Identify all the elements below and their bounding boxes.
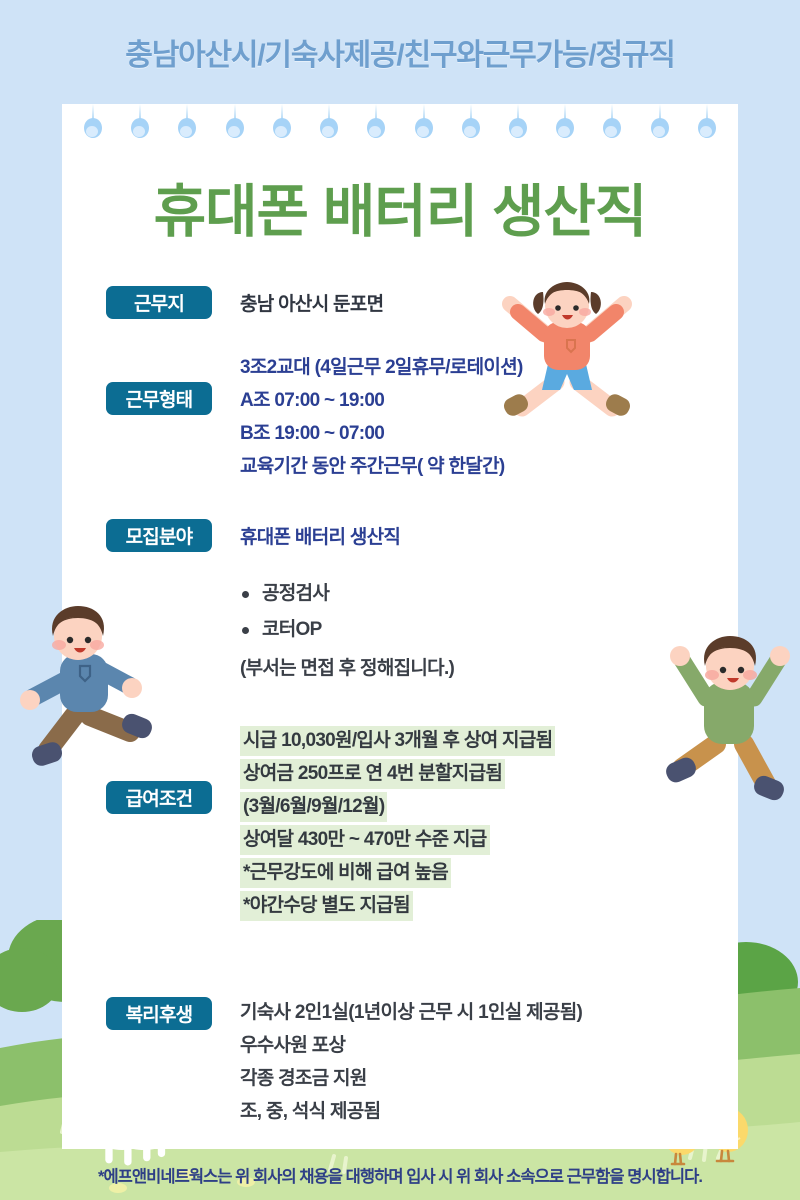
salary-line: *야간수당 별도 지급됨 bbox=[240, 891, 413, 921]
ornament-icon bbox=[367, 104, 385, 154]
salary-line: 상여달 430만 ~ 470만 수준 지급 bbox=[240, 825, 490, 855]
salary-line: *근무강도에 비해 급여 높음 bbox=[240, 858, 451, 888]
badge-work-location: 근무지 bbox=[106, 286, 212, 319]
recruitment-field-note: (부서는 면접 후 정해집니다.) bbox=[240, 652, 454, 685]
section-salary: 급여조건 시급 10,030원/입사 3개월 후 상여 지급됨 상여금 250프… bbox=[106, 724, 555, 924]
running-boy-icon bbox=[8, 604, 158, 784]
list-item: 공정검사 bbox=[240, 576, 454, 612]
ornament-icon bbox=[603, 104, 621, 154]
benefits-content: 기숙사 2인1실(1년이상 근무 시 1인실 제공됨) 우수사원 포상 각종 경… bbox=[240, 994, 582, 1128]
recruitment-field-content: 휴대폰 배터리 생산직 공정검사 코터OP (부서는 면접 후 정해집니다.) bbox=[240, 519, 454, 685]
benefits-line: 조, 중, 석식 제공됨 bbox=[240, 1095, 582, 1128]
section-work-schedule: 근무형태 3조2교대 (4일근무 2일휴무/로테이션) A조 07:00 ~ 1… bbox=[106, 349, 523, 483]
page-title: 휴대폰 배터리 생산직 bbox=[62, 166, 738, 248]
work-schedule-line: 3조2교대 (4일근무 2일휴무/로테이션) bbox=[240, 351, 523, 384]
list-item: 코터OP bbox=[240, 612, 454, 648]
recruitment-field-list: 공정검사 코터OP bbox=[240, 576, 454, 648]
work-location-line: 충남 아산시 둔포면 bbox=[240, 288, 383, 321]
work-schedule-content: 3조2교대 (4일근무 2일휴무/로테이션) A조 07:00 ~ 19:00 … bbox=[240, 349, 523, 483]
salary-line: (3월/6월/9월/12월) bbox=[240, 792, 387, 822]
ornament-icon bbox=[84, 104, 102, 154]
ornament-icon bbox=[698, 104, 716, 154]
recruitment-field-title: 휴대폰 배터리 생산직 bbox=[240, 521, 454, 554]
work-location-content: 충남 아산시 둔포면 bbox=[240, 286, 383, 321]
hanging-ornaments bbox=[62, 104, 738, 154]
ornament-icon bbox=[509, 104, 527, 154]
benefits-line: 우수사원 포상 bbox=[240, 1029, 582, 1062]
section-recruitment-field: 모집분야 휴대폰 배터리 생산직 공정검사 코터OP (부서는 면접 후 정해집… bbox=[106, 519, 454, 685]
footer-bar: *에프앤비네트웍스는 위 회사의 채용을 대행하며 입사 시 위 회사 소속으로… bbox=[0, 1149, 800, 1200]
job-posting-poster: 충남아산시/기숙사제공/친구와근무가능/정규직 bbox=[0, 0, 800, 1200]
header-title: 충남아산시/기숙사제공/친구와근무가능/정규직 bbox=[125, 30, 674, 74]
work-schedule-line: 교육기간 동안 주간근무( 약 한달간) bbox=[240, 450, 523, 483]
salary-line: 시급 10,030원/입사 3개월 후 상여 지급됨 bbox=[240, 726, 555, 756]
benefits-line: 기숙사 2인1실(1년이상 근무 시 1인실 제공됨) bbox=[240, 996, 582, 1029]
ornament-icon bbox=[651, 104, 669, 154]
footer-disclaimer: *에프앤비네트웍스는 위 회사의 채용을 대행하며 입사 시 위 회사 소속으로… bbox=[98, 1163, 702, 1187]
badge-work-schedule: 근무형태 bbox=[106, 382, 212, 415]
ornament-icon bbox=[462, 104, 480, 154]
ornament-icon bbox=[273, 104, 291, 154]
badge-salary: 급여조건 bbox=[106, 781, 212, 814]
ornament-icon bbox=[320, 104, 338, 154]
salary-content: 시급 10,030원/입사 3개월 후 상여 지급됨 상여금 250프로 연 4… bbox=[240, 724, 555, 924]
ornament-icon bbox=[178, 104, 196, 154]
badge-recruitment-field: 모집분야 bbox=[106, 519, 212, 552]
badge-benefits: 복리후생 bbox=[106, 997, 212, 1030]
ornament-icon bbox=[131, 104, 149, 154]
ornament-icon bbox=[415, 104, 433, 154]
jumping-boy-icon bbox=[660, 632, 800, 812]
ornament-icon bbox=[226, 104, 244, 154]
salary-line: 상여금 250프로 연 4번 분할지급됨 bbox=[240, 759, 505, 789]
content-card: 휴대폰 배터리 생산직 근무지 충남 아산시 둔포면 근무형태 3조2교대 (4… bbox=[62, 104, 738, 1149]
jumping-girl-icon bbox=[482, 278, 652, 428]
work-schedule-line: A조 07:00 ~ 19:00 bbox=[240, 384, 523, 417]
ornament-icon bbox=[556, 104, 574, 154]
section-benefits: 복리후생 기숙사 2인1실(1년이상 근무 시 1인실 제공됨) 우수사원 포상… bbox=[106, 994, 582, 1128]
benefits-line: 각종 경조금 지원 bbox=[240, 1062, 582, 1095]
header-band: 충남아산시/기숙사제공/친구와근무가능/정규직 bbox=[0, 0, 800, 104]
work-schedule-line: B조 19:00 ~ 07:00 bbox=[240, 417, 523, 450]
section-work-location: 근무지 충남 아산시 둔포면 bbox=[106, 286, 383, 321]
